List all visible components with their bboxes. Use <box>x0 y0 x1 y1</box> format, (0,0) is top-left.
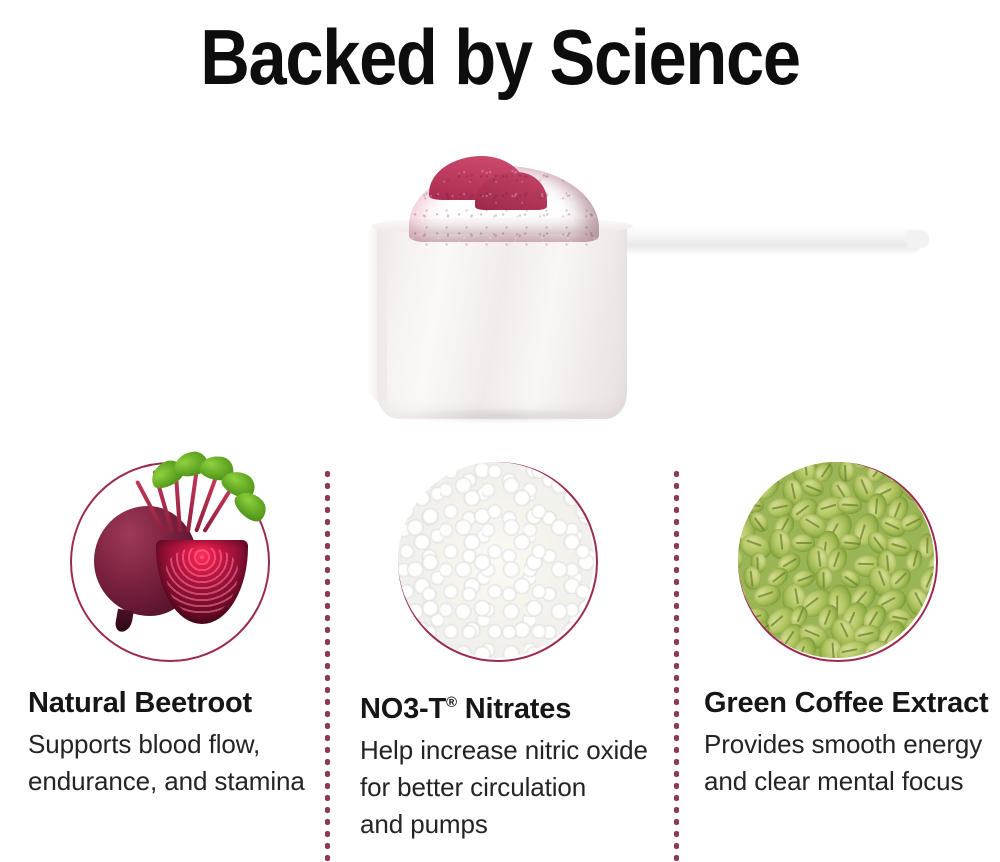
feature-title-beetroot: Natural Beetroot <box>28 686 328 720</box>
feature-column-beetroot: Natural Beetroot Supports blood flow, en… <box>8 462 328 800</box>
feature-title-nitrates-main: NO3-T <box>360 693 446 725</box>
scoop-shadow <box>391 408 619 424</box>
feature-title-nitrates-tail: Nitrates <box>457 693 571 725</box>
feature-desc-line: endurance, and stamina <box>28 763 328 800</box>
feature-column-green-coffee: Green Coffee Extract Provides smooth ene… <box>690 462 1000 800</box>
feature-desc-line: Provides smooth energy <box>704 726 1000 763</box>
scoop-handle <box>583 228 923 252</box>
scoop-cup <box>377 224 627 419</box>
beetroot-icon <box>70 462 270 662</box>
nitrate-image-clip <box>398 462 594 658</box>
beet-stems-group <box>156 460 274 532</box>
coffee-bean <box>744 462 761 482</box>
nitrate-powder-texture <box>398 462 594 658</box>
feature-column-nitrates: NO3-T® Nitrates Help increase nitric oxi… <box>346 462 666 843</box>
green-coffee-beans-texture <box>738 462 934 658</box>
coffee-bean <box>815 567 832 590</box>
feature-desc-line: and pumps <box>360 806 672 843</box>
coffee-bean <box>916 643 934 658</box>
registered-trademark-icon: ® <box>446 694 457 711</box>
beet-half-shape <box>156 540 248 624</box>
coffee-bean <box>738 584 748 610</box>
coffee-bean <box>738 639 759 658</box>
feature-title-green-coffee: Green Coffee Extract <box>704 686 1000 720</box>
nitrate-powder-icon <box>398 462 598 662</box>
green-coffee-image-clip <box>738 462 934 658</box>
feature-desc-line: for better circulation <box>360 769 672 806</box>
feature-description-green-coffee: Provides smooth energy and clear mental … <box>704 726 1000 800</box>
feature-title-nitrates: NO3-T® Nitrates <box>360 686 666 726</box>
green-coffee-bean-icon <box>738 462 938 662</box>
feature-desc-line: Help increase nitric oxide <box>360 732 672 769</box>
feature-desc-line: Supports blood flow, <box>28 726 328 763</box>
feature-description-nitrates: Help increase nitric oxide for better ci… <box>360 732 672 843</box>
divider-right <box>674 468 679 862</box>
powder-scoop-image <box>355 150 945 440</box>
page-title: Backed by Science <box>60 14 940 100</box>
feature-description-beetroot: Supports blood flow, endurance, and stam… <box>28 726 328 800</box>
feature-desc-line: and clear mental focus <box>704 763 1000 800</box>
